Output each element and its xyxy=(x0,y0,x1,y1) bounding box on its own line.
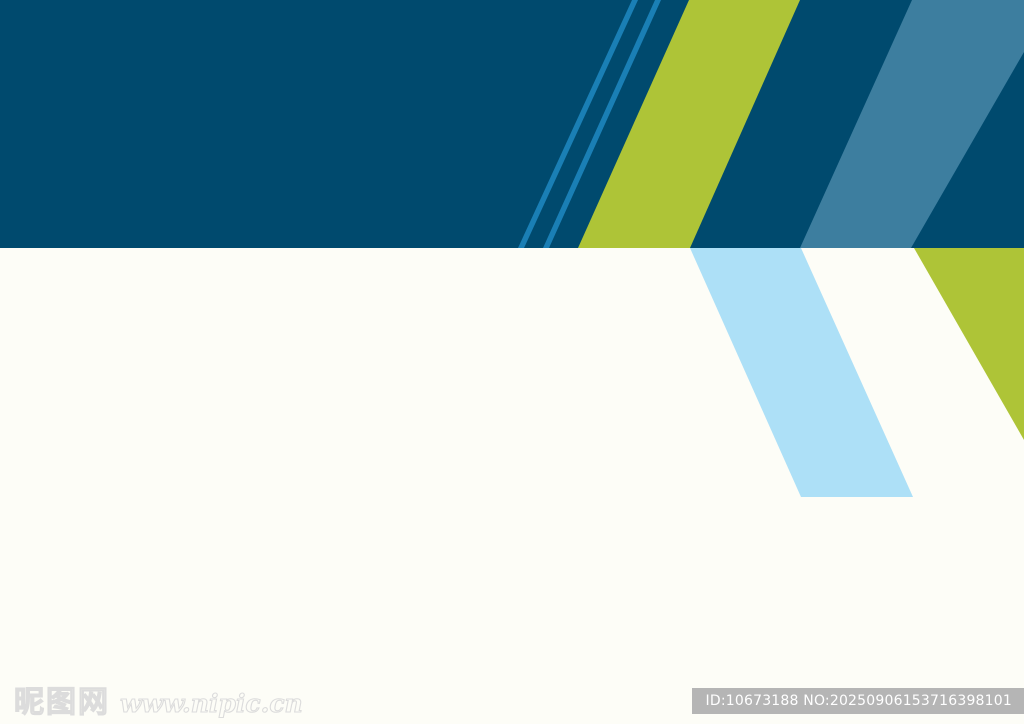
image-id-badge: ID:10673188 NO:20250906153716398101 xyxy=(692,688,1024,714)
artwork-canvas: 昵图网 www.nipic.cn ID:10673188 NO:20250906… xyxy=(0,0,1024,724)
abstract-chevron-artwork xyxy=(0,0,1024,724)
